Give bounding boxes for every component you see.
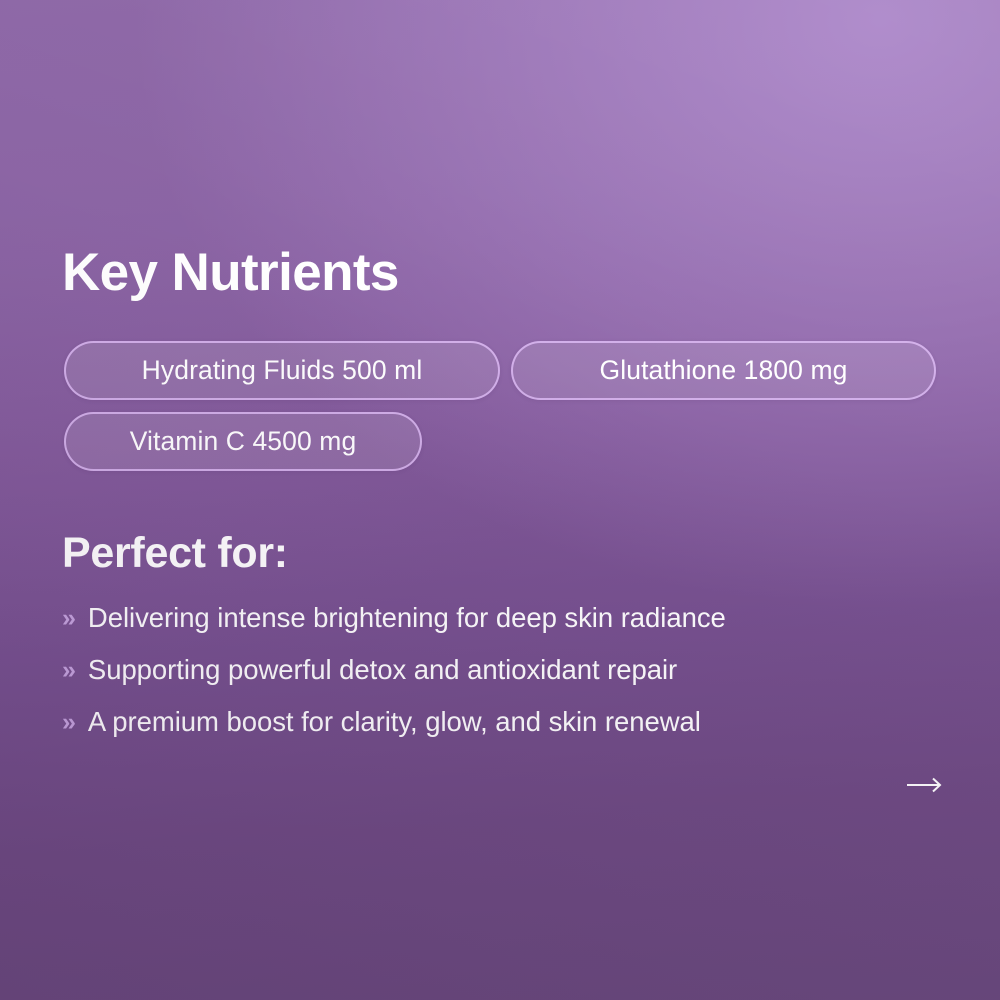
list-item-label: Supporting powerful detox and antioxidan… bbox=[88, 656, 677, 684]
nutrient-pill: Hydrating Fluids 500 ml bbox=[64, 341, 500, 400]
nutrient-pill: Vitamin C 4500 mg bbox=[64, 412, 422, 471]
arrow-right-icon bbox=[906, 777, 944, 793]
key-nutrients-card: Key Nutrients Hydrating Fluids 500 ml Gl… bbox=[0, 0, 1000, 1000]
list-item-label: Delivering intense brightening for deep … bbox=[88, 604, 726, 632]
benefits-list: » Delivering intense brightening for dee… bbox=[62, 604, 942, 760]
double-chevron-icon: » bbox=[62, 606, 76, 631]
nutrient-pill-list: Hydrating Fluids 500 ml Glutathione 1800… bbox=[64, 341, 944, 471]
next-slide-button[interactable] bbox=[902, 766, 948, 804]
list-item: » Supporting powerful detox and antioxid… bbox=[62, 656, 942, 708]
list-item: » A premium boost for clarity, glow, and… bbox=[62, 708, 942, 760]
double-chevron-icon: » bbox=[62, 658, 76, 683]
list-item-label: A premium boost for clarity, glow, and s… bbox=[88, 708, 701, 736]
page-title: Key Nutrients bbox=[62, 244, 399, 301]
nutrient-pill: Glutathione 1800 mg bbox=[511, 341, 936, 400]
benefits-heading: Perfect for: bbox=[62, 530, 288, 577]
double-chevron-icon: » bbox=[62, 710, 76, 735]
list-item: » Delivering intense brightening for dee… bbox=[62, 604, 942, 656]
